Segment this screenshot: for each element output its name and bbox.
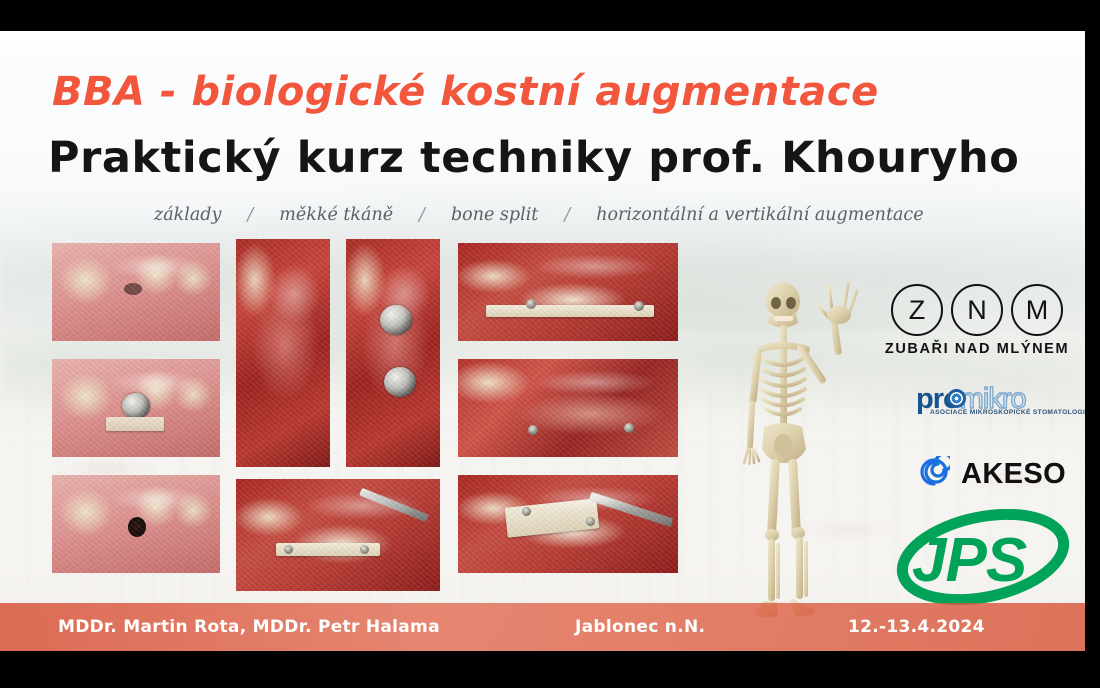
module-item-1: měkké tkáně	[275, 205, 397, 225]
module-item-2: bone split	[447, 205, 542, 225]
footer-band: MDDr. Martin Rota, MDDr. Petr Halama Jab…	[0, 603, 1085, 651]
photo-shine	[52, 359, 220, 457]
clinical-photo-8	[458, 359, 678, 457]
znm-letter-n: N	[951, 284, 1003, 336]
module-separator-1: /	[397, 205, 447, 225]
photo-shine	[458, 359, 678, 457]
znm-wordmark: ZUBAŘI NAD MLÝNEM	[884, 341, 1070, 357]
clinical-photo-4	[236, 239, 330, 467]
footer-authors: MDDr. Martin Rota, MDDr. Petr Halama	[58, 617, 440, 637]
microscope-lens-icon	[947, 389, 966, 408]
page-title: BBA - biologické kostní augmentace	[52, 69, 879, 115]
photo-shine	[236, 479, 440, 591]
photo-shine	[458, 475, 678, 573]
promikro-tagline: ASOCIACE MIKROSKOPICKÉ STOMATOLOGIE	[930, 409, 1085, 416]
letterbox-right	[1085, 0, 1100, 688]
znm-letter-m: M	[1011, 284, 1063, 336]
clinical-photo-2	[52, 359, 220, 457]
znm-letter-z: Z	[891, 284, 943, 336]
clinical-photo-3	[52, 475, 220, 573]
module-list: základy / měkké tkáně / bone split / hor…	[150, 205, 1010, 225]
skeleton-figure	[712, 267, 884, 625]
photo-shine	[52, 475, 220, 573]
clinical-photo-5	[346, 239, 440, 467]
akeso-wordmark: AKESO	[961, 458, 1066, 491]
jps-wordmark: JPS	[912, 525, 1026, 596]
logo-akeso[interactable]: AKESO	[918, 454, 1058, 494]
footer-dates: 12.-13.4.2024	[848, 617, 985, 637]
page-subtitle: Praktický kurz techniky prof. Khouryho	[48, 133, 1019, 183]
logo-promikro[interactable]: pro mikro ASOCIACE MIKROSKOPICKÉ STOMATO…	[916, 383, 1062, 421]
module-item-0: základy	[150, 205, 225, 225]
znm-circle-group: Z N M	[884, 284, 1070, 336]
clinical-photo-7	[458, 243, 678, 341]
photo-shine	[236, 239, 330, 467]
photo-shine	[346, 239, 440, 467]
slide-area: BBA - biologické kostní augmentace Prakt…	[0, 31, 1085, 651]
spiral-icon	[918, 456, 950, 492]
clinical-photo-9	[458, 475, 678, 573]
photo-shine	[52, 243, 220, 341]
clinical-photo-1	[52, 243, 220, 341]
module-separator-2: /	[542, 205, 592, 225]
course-poster: BBA - biologické kostní augmentace Prakt…	[0, 0, 1100, 688]
clinical-photo-6	[236, 479, 440, 591]
logo-znm[interactable]: Z N M ZUBAŘI NAD MLÝNEM	[884, 284, 1070, 362]
module-separator-0: /	[225, 205, 275, 225]
photo-shine	[458, 243, 678, 341]
footer-place: Jablonec n.N.	[575, 617, 705, 637]
logo-jps[interactable]: JPS	[892, 509, 1074, 605]
module-item-3: horizontální a vertikální augmentace	[592, 205, 927, 225]
